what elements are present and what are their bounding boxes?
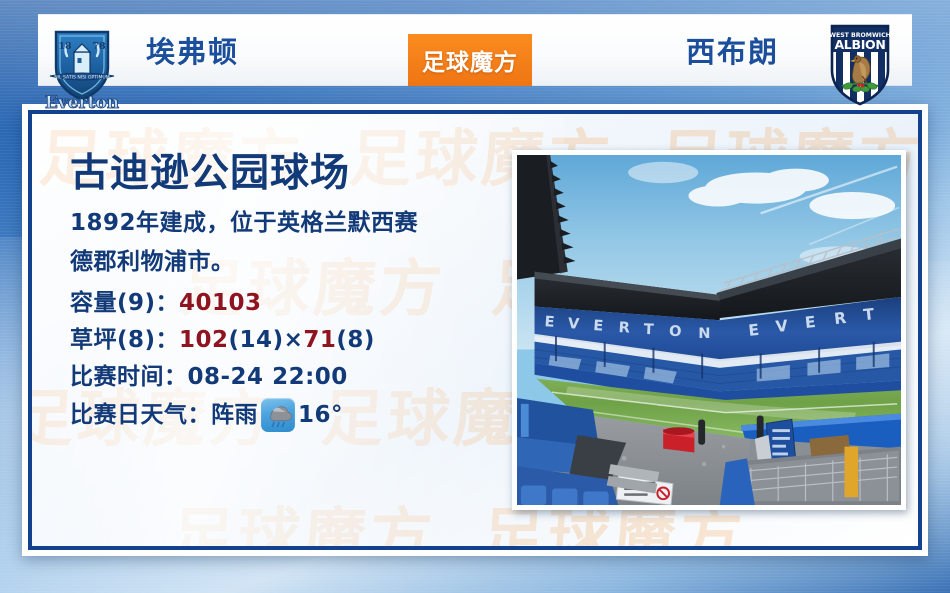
west-bromwich-albion-crest-icon: WEST BROMWICH ALBION xyxy=(812,16,908,112)
pitch-length: 102 xyxy=(179,327,229,353)
goodison-park-photo-frame: E V E R T O N E V E R T xyxy=(512,150,906,510)
stadium-info-block: 古迪逊公园球场 1892年建成，位于英格兰默西赛 德郡利物浦市。 容量(9)：4… xyxy=(70,152,490,434)
stadium-info-card-inner: 足球魔方 足球魔方 足球魔方 足球魔方 足球魔方 足球魔方 足球魔方 足球魔方 … xyxy=(28,110,922,550)
weather-condition: 阵雨 xyxy=(211,397,258,434)
stadium-description-line-1: 1892年建成，位于英格兰默西赛 xyxy=(70,206,490,242)
match-time-label: 比赛时间 xyxy=(70,364,164,390)
capacity-separator: ： xyxy=(156,290,180,316)
svg-text:E: E xyxy=(593,317,604,335)
svg-text:R: R xyxy=(618,319,630,337)
svg-text:NIL SATIS NISI OPTIMUM: NIL SATIS NISI OPTIMUM xyxy=(54,75,110,81)
away-team-name: 西布朗 xyxy=(686,14,779,86)
brand-logo: 足球魔方 xyxy=(408,34,532,86)
capacity-row: 容量(9)：40103 xyxy=(70,285,490,322)
svg-text:E: E xyxy=(804,313,816,332)
weather-separator: ： xyxy=(188,397,212,434)
svg-text:E: E xyxy=(747,321,759,340)
capacity-label: 容量(9) xyxy=(70,290,156,316)
match-time-separator: ： xyxy=(164,364,188,390)
page-root: 18 78 NIL SATIS NISI OPTIMUM Everton 埃弗顿… xyxy=(0,0,950,593)
match-time-row: 比赛时间：08-24 22:00 xyxy=(70,359,490,396)
svg-text:N: N xyxy=(698,325,710,342)
stadium-description-line-2: 德郡利物浦市。 xyxy=(70,245,490,281)
watermark: 足球魔方 xyxy=(169,486,439,546)
svg-text:O: O xyxy=(669,323,682,340)
home-team-name: 埃弗顿 xyxy=(146,14,239,86)
rain-cloud-icon xyxy=(261,398,295,432)
match-time-value: 08-24 22:00 xyxy=(188,364,348,390)
svg-text:R: R xyxy=(833,309,847,328)
weather-row: 比赛日天气：阵雨 16° xyxy=(70,397,490,434)
pitch-label: 草坪(8) xyxy=(70,327,156,353)
weather-label: 比赛日天气 xyxy=(70,397,188,434)
svg-text:V: V xyxy=(775,317,789,336)
stadium-name: 古迪逊公园球场 xyxy=(70,152,490,196)
everton-crest-icon: 18 78 NIL SATIS NISI OPTIMUM Everton xyxy=(34,16,130,112)
match-header: 18 78 NIL SATIS NISI OPTIMUM Everton 埃弗顿… xyxy=(0,14,950,86)
brand-logo-text: 足球魔方 xyxy=(422,43,518,77)
capacity-value: 40103 xyxy=(179,290,262,316)
svg-text:78: 78 xyxy=(92,41,106,52)
svg-text:E: E xyxy=(544,313,555,331)
pitch-times-symbol: × xyxy=(284,327,304,353)
pitch-width: 71 xyxy=(303,327,336,353)
weather-temperature: 16° xyxy=(298,397,343,434)
svg-text:Everton: Everton xyxy=(45,93,119,112)
pitch-width-note: (8) xyxy=(336,327,375,353)
pitch-row: 草坪(8)：102(14)×71(8) xyxy=(70,322,490,359)
svg-text:18: 18 xyxy=(58,41,72,52)
svg-text:V: V xyxy=(567,315,580,333)
svg-text:ALBION: ALBION xyxy=(834,37,885,52)
goodison-park-photo: E V E R T O N E V E R T xyxy=(517,155,901,505)
svg-text:T: T xyxy=(644,321,655,338)
pitch-length-note: (14) xyxy=(229,327,284,353)
stadium-info-card: 足球魔方 足球魔方 足球魔方 足球魔方 足球魔方 足球魔方 足球魔方 足球魔方 … xyxy=(22,104,928,556)
pitch-separator: ： xyxy=(156,327,180,353)
